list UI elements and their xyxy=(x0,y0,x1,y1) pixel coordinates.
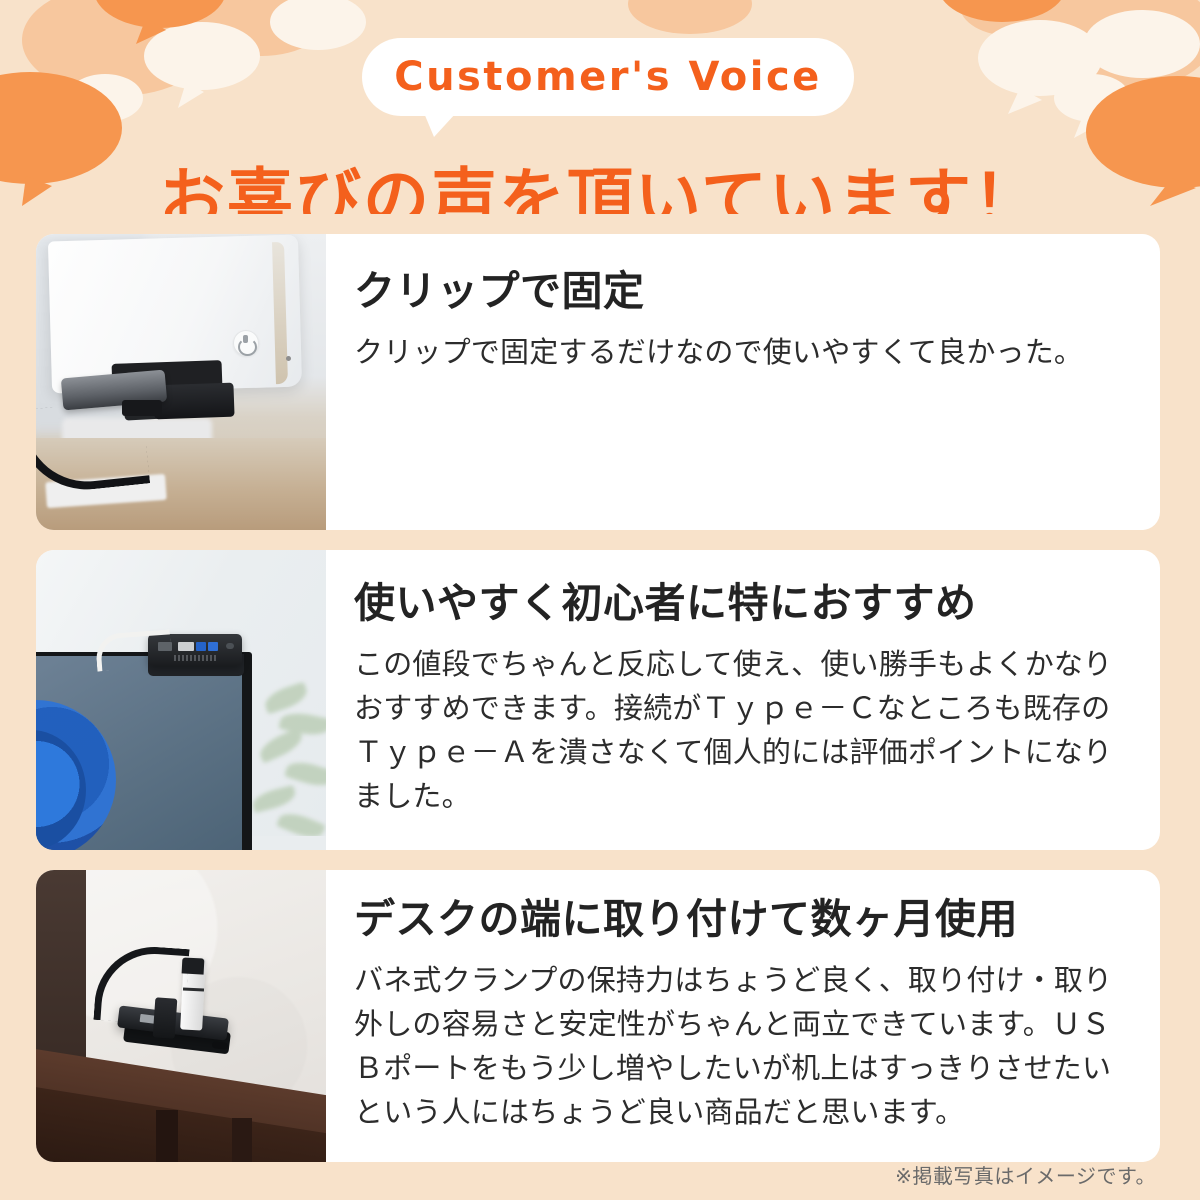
review-body: デスクの端に取り付けて数ヶ月使用 バネ式クランプの保持力はちょうど良く、取り付け… xyxy=(326,870,1160,1162)
review-card-list: クリップで固定 クリップで固定するだけなので使いやすくて良かった。 xyxy=(0,214,1200,1162)
review-photo xyxy=(36,234,326,530)
review-body: 使いやすく初心者に特におすすめ この値段でちゃんと反応して使え、使い勝手もよくか… xyxy=(326,550,1160,850)
page-title: お喜びの声を頂いています！ xyxy=(0,160,1200,214)
review-text: クリップで固定するだけなので使いやすくて良かった。 xyxy=(354,331,1126,375)
review-title: デスクの端に取り付けて数ヶ月使用 xyxy=(354,896,1126,943)
power-button-icon xyxy=(233,330,259,356)
badge-tail-icon xyxy=(424,113,456,137)
review-text: この値段でちゃんと反応して使え、使い勝手もよくかなりおすすめできます。接続がＴｙ… xyxy=(354,643,1126,819)
review-card: デスクの端に取り付けて数ヶ月使用 バネ式クランプの保持力はちょうど良く、取り付け… xyxy=(36,870,1160,1162)
monitor-clip-hub-photo xyxy=(36,234,326,530)
review-text: バネ式クランプの保持力はちょうど良く、取り付け・取り外しの容易さと安定性がちゃん… xyxy=(354,959,1126,1135)
page-header: Customer's Voice お喜びの声を頂いています！ xyxy=(0,0,1200,214)
review-title: 使いやすく初心者に特におすすめ xyxy=(354,580,1126,627)
customers-voice-label: Customer's Voice xyxy=(394,57,822,97)
review-body: クリップで固定 クリップで固定するだけなので使いやすくて良かった。 xyxy=(326,234,1160,530)
customer-voice-page: Customer's Voice お喜びの声を頂いています！ xyxy=(0,0,1200,1200)
review-card: クリップで固定 クリップで固定するだけなので使いやすくて良かった。 xyxy=(36,234,1160,530)
review-photo xyxy=(36,550,326,850)
blue-monitor-hub-photo xyxy=(36,550,326,850)
review-card: 使いやすく初心者に特におすすめ この値段でちゃんと反応して使え、使い勝手もよくか… xyxy=(36,550,1160,850)
review-photo xyxy=(36,870,326,1162)
customers-voice-badge: Customer's Voice xyxy=(362,38,854,116)
review-title: クリップで固定 xyxy=(354,268,1126,315)
photo-disclaimer: ※掲載写真はイメージです。 xyxy=(895,1160,1156,1189)
desk-clamp-hub-photo xyxy=(36,870,326,1162)
